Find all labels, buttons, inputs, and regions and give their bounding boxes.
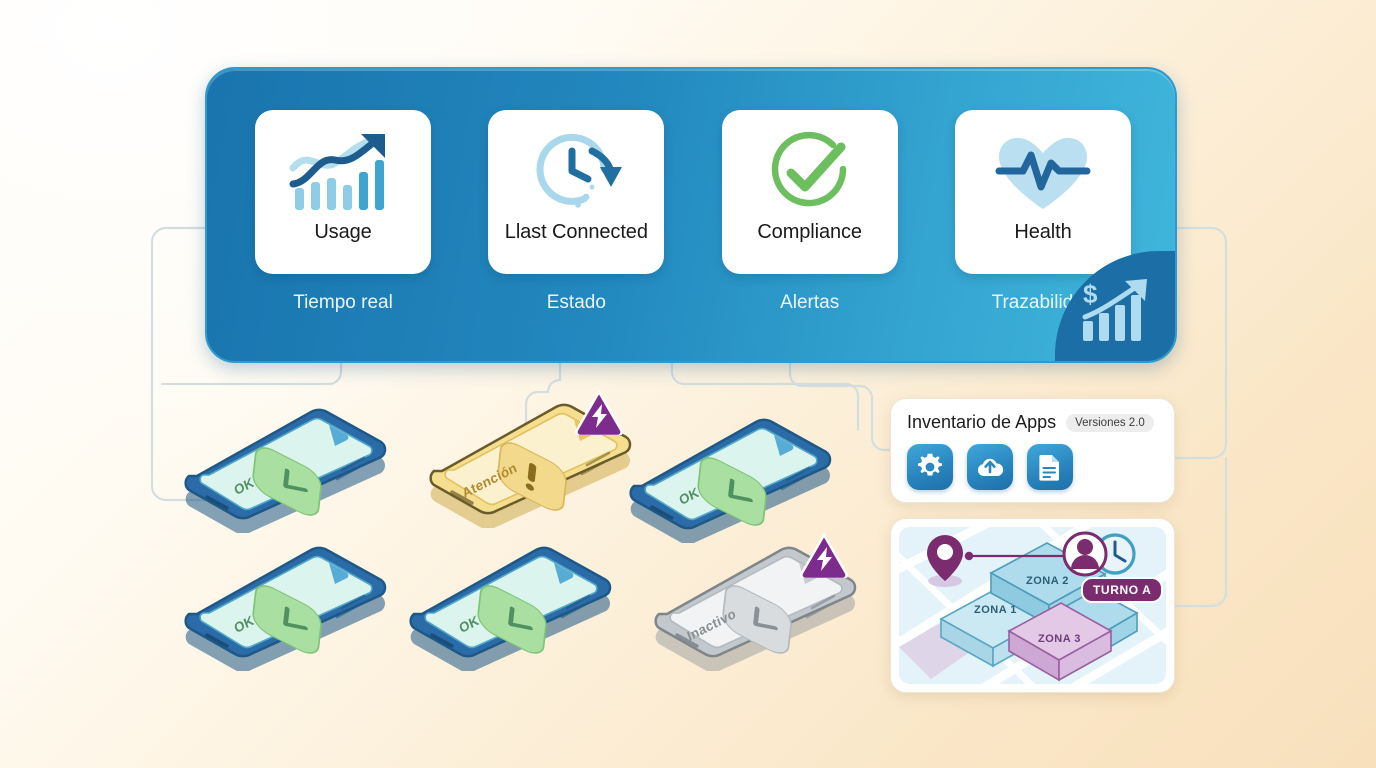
- map-canvas: ZONA 1 ZONA 2 ZONA 3 TURNO A: [899, 527, 1166, 684]
- kpi-tile-label: Compliance: [757, 221, 862, 244]
- gear-icon[interactable]: [907, 444, 953, 490]
- cloud-upload-icon[interactable]: [967, 444, 1013, 490]
- compliance-check-icon: [765, 127, 855, 219]
- zone-label-3: ZONA 3: [1038, 633, 1081, 645]
- zone-label-2: ZONA 2: [1026, 575, 1069, 587]
- kpi-tile-card[interactable]: Compliance: [722, 110, 898, 274]
- phone-isometric: [400, 546, 615, 671]
- shift-badge[interactable]: TURNO A: [1081, 577, 1163, 603]
- device-card-4[interactable]: OK: [175, 546, 390, 676]
- apps-version-badge: Versiones 2.0: [1066, 414, 1154, 432]
- warning-badge[interactable]: [800, 533, 848, 583]
- warning-lightning-icon: [800, 533, 848, 578]
- device-card-3[interactable]: OK: [620, 418, 835, 548]
- document-icon[interactable]: [1027, 444, 1073, 490]
- kpi-tile-card[interactable]: Llast Connected: [488, 110, 664, 274]
- zone-label-1: ZONA 1: [974, 604, 1017, 616]
- phone-isometric: [620, 418, 835, 543]
- kpi-tile-label: Health: [1014, 221, 1071, 244]
- illustration-canvas: Usage Tiempo real: [0, 0, 1376, 768]
- kpi-tile-usage[interactable]: Usage Tiempo real: [248, 110, 438, 363]
- map-illustration: [899, 527, 1166, 684]
- zone-map-card[interactable]: ZONA 1 ZONA 2 ZONA 3 TURNO A: [890, 518, 1175, 693]
- kpi-tile-last-connected[interactable]: Llast Connected Estado: [481, 110, 671, 363]
- phone-isometric: [175, 546, 390, 671]
- device-card-2[interactable]: Atención: [420, 403, 635, 533]
- kpi-tile-sublabel: Estado: [547, 292, 606, 314]
- usage-growth-chart-icon: [287, 127, 399, 219]
- device-card-5[interactable]: OK: [400, 546, 615, 676]
- kpi-tile-sublabel: Tiempo real: [293, 292, 393, 314]
- health-heartbeat-icon: [991, 127, 1095, 219]
- kpi-banner: Usage Tiempo real: [205, 67, 1177, 363]
- device-card-1[interactable]: OK: [175, 408, 390, 538]
- kpi-tile-sublabel: Alertas: [780, 292, 839, 314]
- apps-card-header: Inventario de Apps Versiones 2.0: [907, 412, 1158, 433]
- phone-isometric: [175, 408, 390, 533]
- kpi-tile-row: Usage Tiempo real: [207, 69, 1177, 363]
- warning-lightning-icon: [575, 390, 623, 435]
- apps-icon-row: [907, 444, 1158, 490]
- apps-card-title: Inventario de Apps: [907, 412, 1056, 433]
- kpi-tile-label: Llast Connected: [505, 221, 648, 244]
- warning-badge[interactable]: [575, 390, 623, 440]
- apps-inventory-card[interactable]: Inventario de Apps Versiones 2.0: [890, 398, 1175, 503]
- kpi-tile-label: Usage: [314, 221, 371, 244]
- device-card-6[interactable]: Inactivo: [645, 546, 860, 676]
- kpi-tile-card[interactable]: Health: [955, 110, 1131, 274]
- dollar-growth-chart-icon: $: [1081, 277, 1159, 345]
- kpi-tile-compliance[interactable]: Compliance Alertas: [715, 110, 905, 363]
- kpi-tile-card[interactable]: Usage: [255, 110, 431, 274]
- last-connected-clock-icon: [526, 127, 626, 219]
- svg-text:$: $: [1083, 279, 1098, 309]
